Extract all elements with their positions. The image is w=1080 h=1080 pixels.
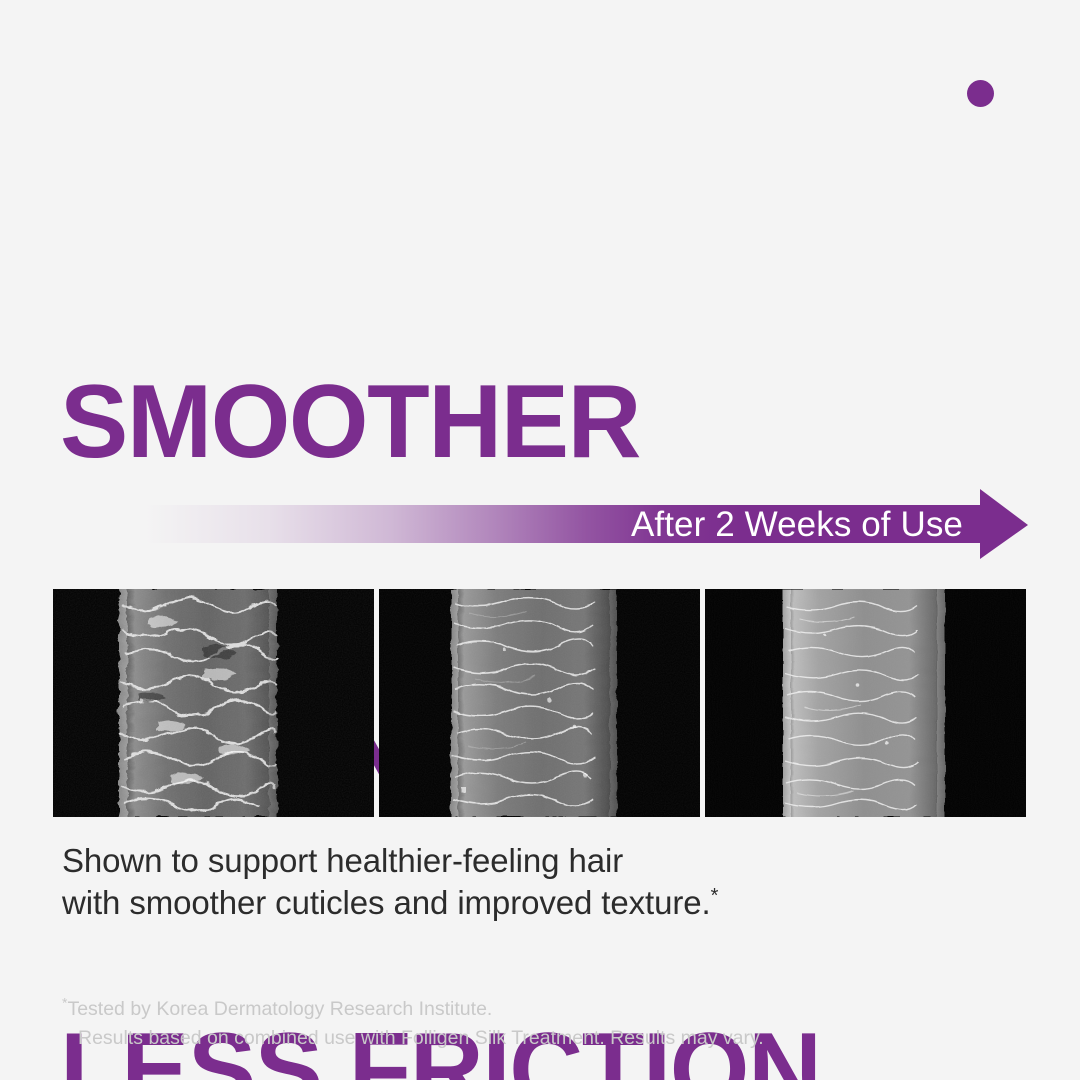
sem-image-during xyxy=(379,589,700,817)
sem-panel-before xyxy=(53,589,374,817)
body-copy-line-2-text: with smoother cuticles and improved text… xyxy=(62,884,711,921)
sem-panel-during xyxy=(379,589,700,817)
sem-panel-row xyxy=(53,589,1027,817)
footnote-line-1-text: Tested by Korea Dermatology Research Ins… xyxy=(67,998,492,1020)
body-copy-line-2: with smoother cuticles and improved text… xyxy=(62,882,962,924)
sem-image-after xyxy=(705,589,1026,817)
promo-poster: SMOOTHER STRANDS, LESS FRICTION xyxy=(0,0,1080,1080)
arrow-label: After 2 Weeks of Use xyxy=(0,487,965,563)
footnote-disclaimer: *Tested by Korea Dermatology Research In… xyxy=(62,995,1002,1053)
headline-line-1: SMOOTHER xyxy=(60,368,1006,476)
body-copy-line-1: Shown to support healthier-feeling hair xyxy=(62,840,962,882)
body-copy: Shown to support healthier-feeling hair … xyxy=(62,840,962,924)
body-copy-asterisk: * xyxy=(711,885,719,907)
sem-image-before xyxy=(53,589,374,817)
sem-panel-after xyxy=(705,589,1026,817)
footnote-line-1: *Tested by Korea Dermatology Research In… xyxy=(62,995,1002,1024)
purple-dot-icon xyxy=(967,80,994,107)
footnote-line-2: Results based on combined use with Folli… xyxy=(62,1024,1002,1053)
timeline-arrow: After 2 Weeks of Use xyxy=(0,487,1080,563)
